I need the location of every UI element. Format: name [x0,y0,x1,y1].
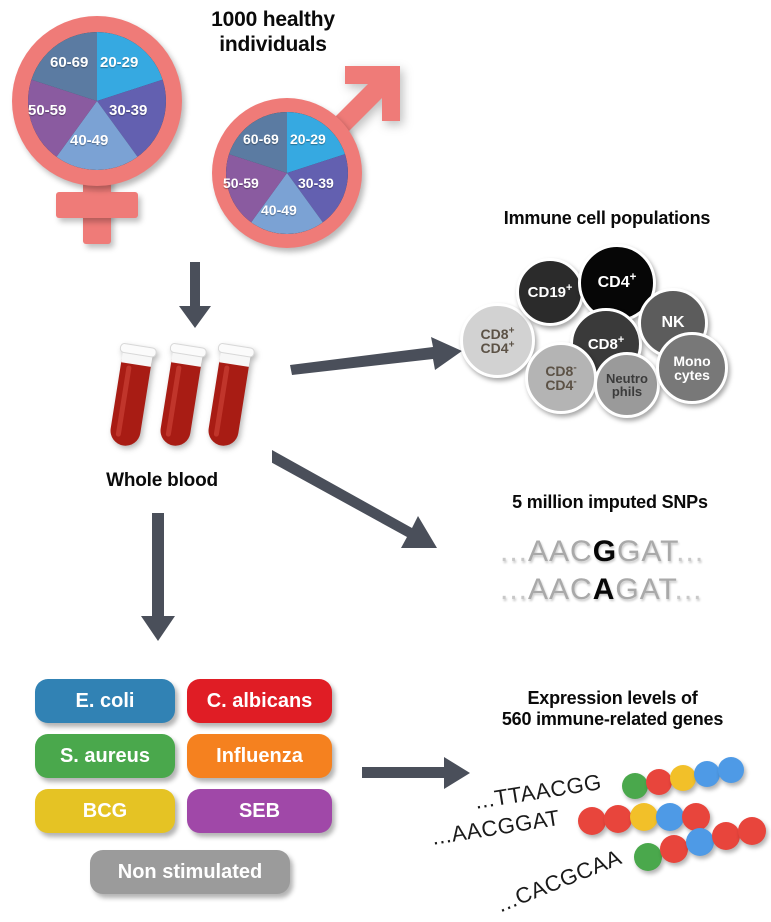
gene-bead [694,761,720,787]
snp-sequence-row-2: ...AACAGAT... [500,573,703,607]
immune-cell-neutrophils: Neutro phils [594,352,660,418]
snps-title: 5 million imputed SNPs [460,492,760,513]
snp-before: AAC [528,535,593,568]
cell-label-line-2: cytes [674,368,710,382]
stimulus-label: BCG [83,800,127,823]
cell-label: CD4+ [598,275,637,291]
gene-bead [578,807,606,835]
stimulus-label: S. aureus [60,745,150,768]
arrow-down-cohort-to-blood [175,262,215,330]
immune-cell-cd8neg-cd4neg: CD8- CD4- [525,342,597,414]
stimulus-seb[interactable]: SEB [187,789,332,833]
immune-cell-cd19pos: CD19+ [516,258,584,326]
arrow-blood-to-immune-cells [290,325,465,375]
female-stem-crossbar [56,192,138,218]
blood-tube-1 [105,343,156,448]
snp-highlight-base: G [593,535,617,568]
male-symbol: 20-29 30-39 40-49 50-59 60-69 [204,58,404,258]
cell-label-line-1: CD8- [545,364,576,378]
figure-canvas: 1000 healthy individuals 20-29 30-39 40-… [0,0,771,922]
blood-tube-3 [203,343,254,448]
stimulus-bcg[interactable]: BCG [35,789,175,833]
snp-suffix: ... [676,535,704,568]
arrow-down-blood-to-stimuli [138,513,178,643]
stimulus-e-coli[interactable]: E. coli [35,679,175,723]
stimulus-label: Influenza [216,745,303,768]
stimulus-label: Non stimulated [118,861,262,884]
cell-label-line-1: Mono [673,354,710,368]
cohort-title-line2: individuals [178,33,368,58]
snp-before: AAC [528,573,593,606]
gene-bead [682,803,710,831]
stimulus-label: E. coli [76,690,135,713]
cohort-title-line1: 1000 healthy [178,8,368,33]
snp-after: GAT [615,573,674,606]
cell-label: CD8+ [588,337,624,352]
cell-label-line-2: CD4+ [481,341,515,355]
immune-cell-cluster: CD8+ CD4+ CD19+ CD4+ CD8+ NK CD8- CD4- N… [460,240,760,420]
gene-bead [718,757,744,783]
male-pie-svg [226,112,348,234]
snp-highlight-base: A [593,573,616,606]
cohort-title: 1000 healthy individuals [178,8,368,58]
gene-sequence-3: ...CACGCAA [493,844,625,918]
arrow-stimuli-to-expression [362,756,472,790]
immune-cell-monocytes: Mono cytes [656,332,728,404]
cell-label-line-2: phils [612,385,642,398]
female-pie-svg [28,32,166,170]
stimulus-non-stimulated[interactable]: Non stimulated [90,850,290,894]
immune-title: Immune cell populations [452,208,762,229]
female-age-pie [28,32,166,170]
stimulus-label: C. albicans [207,690,313,713]
blood-tubes [95,336,265,456]
stimulus-label: SEB [239,800,280,823]
expression-title: Expression levels of 560 immune-related … [460,688,765,730]
snp-prefix: ... [500,535,528,568]
blood-tubes-svg [95,336,265,456]
stimulus-s-aureus[interactable]: S. aureus [35,734,175,778]
gene-bead [630,803,658,831]
gene-bead [646,769,672,795]
gene-bead [670,765,696,791]
expression-title-line2: 560 immune-related genes [460,709,765,730]
cell-label: NK [661,315,684,331]
female-symbol: 20-29 30-39 40-49 50-59 60-69 [8,14,198,244]
gene-bead [622,773,648,799]
gene-bead [604,805,632,833]
gene-bead [660,835,688,863]
snp-suffix: ... [675,573,703,606]
gene-bead [634,843,662,871]
snp-sequence-row-1: ...AACGGAT... [500,535,704,569]
gene-bead [656,803,684,831]
snp-prefix: ... [500,573,528,606]
expression-title-line1: Expression levels of [460,688,765,709]
gene-bead [686,828,714,856]
gene-bead [712,822,740,850]
stimulus-c-albicans[interactable]: C. albicans [187,679,332,723]
whole-blood-label: Whole blood [82,470,242,492]
cell-label: CD19+ [528,285,573,300]
snp-after: GAT [617,535,676,568]
gene-strands: ...TTAACGG ...AACGGAT ...CACGCAA [470,745,770,915]
blood-tube-2 [155,343,206,448]
male-age-pie [226,112,348,234]
stimulus-influenza[interactable]: Influenza [187,734,332,778]
cell-label-line-2: CD4- [545,378,576,392]
gene-bead [738,817,766,845]
arrow-blood-to-snps [272,450,452,560]
